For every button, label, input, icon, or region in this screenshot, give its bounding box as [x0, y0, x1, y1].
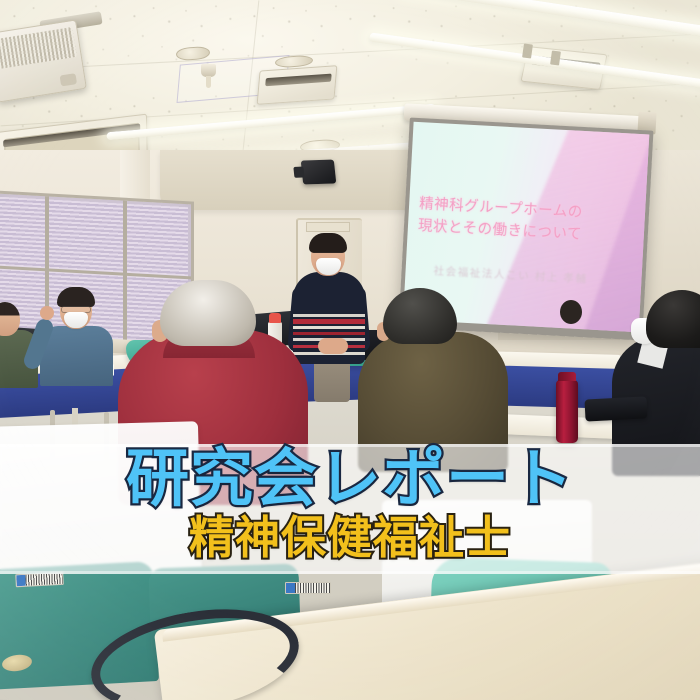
air-conditioner-vent: [257, 65, 338, 105]
attendee-hair: [160, 280, 256, 346]
attendee-hand: [40, 306, 54, 320]
banner-title-sub: 精神保健福祉士: [0, 515, 700, 560]
attendee-hair: [57, 287, 95, 307]
sprinkler-head-icon: [201, 64, 216, 77]
light-clip: [522, 43, 533, 58]
sweater-stripe: [293, 326, 365, 329]
seminar-photo-with-title-banner: 精神科グループホームの 現状とその働きについて 社会福祉法人こい 村上 孝輔: [0, 0, 700, 700]
sweater-stripe: [293, 314, 365, 317]
attendee-body: [40, 326, 113, 386]
ceiling-projector-icon: [0, 19, 87, 102]
door-transom: [306, 222, 350, 232]
sweater-stripe: [293, 332, 365, 335]
projector-lens: [60, 73, 78, 86]
presenter-hands: [318, 338, 348, 354]
black-pouch: [584, 396, 647, 421]
light-clip: [550, 50, 561, 65]
chair-inventory-tag: [15, 572, 64, 587]
presenter-hair: [309, 233, 347, 253]
wall-speaker-icon: [301, 159, 337, 184]
projector-vent: [0, 27, 77, 69]
attendee-head: [560, 300, 582, 324]
ac-vent-slot: [265, 74, 332, 87]
sweater-stripe: [293, 319, 365, 324]
red-thermos-bottle: [556, 380, 578, 443]
banner-title-main: 研究会レポート: [0, 448, 700, 511]
banner-bottom-rule: [0, 571, 700, 574]
chair-inventory-tag: [285, 582, 331, 594]
